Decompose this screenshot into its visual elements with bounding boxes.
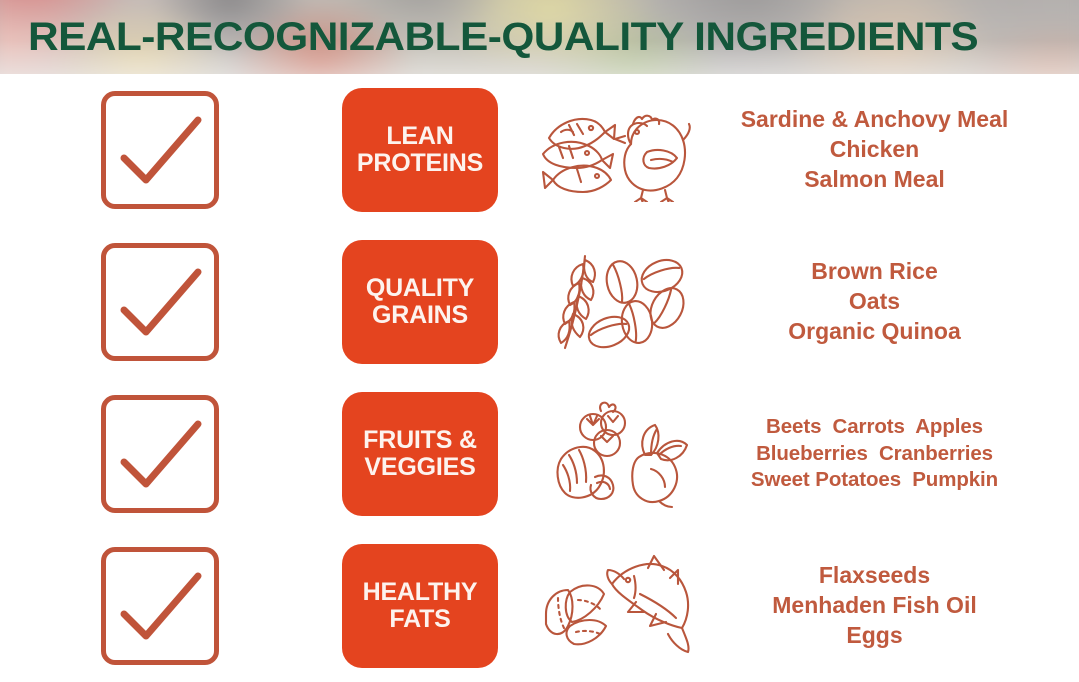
ingredient-line: Salmon Meal	[804, 165, 945, 195]
checkbox-cell	[0, 91, 320, 209]
art-cell	[520, 250, 710, 354]
art-cell	[520, 552, 710, 660]
wheat-and-grains-icon	[539, 250, 691, 354]
label-cell: HEALTHY FATS	[320, 544, 520, 668]
category-pill-healthy-fats[interactable]: HEALTHY FATS	[342, 544, 498, 668]
ingredient-line: Eggs	[846, 621, 902, 651]
ingredient-line: Brown Rice	[811, 257, 938, 287]
pill-line-1: HEALTHY	[363, 579, 478, 606]
art-cell	[520, 399, 710, 509]
ingredient-row: FRUITS & VEGGIES	[0, 378, 1079, 530]
art-cell	[520, 98, 710, 202]
category-pill-lean-proteins[interactable]: LEAN PROTEINS	[342, 88, 498, 212]
checkbox-lean-proteins[interactable]	[101, 91, 219, 209]
ingredient-line: Blueberries Cranberries	[756, 441, 993, 468]
ingredient-line: Sardine & Anchovy Meal	[741, 105, 1009, 135]
checkmark-icon	[106, 552, 214, 660]
ingredients-infographic: REAL-RECOGNIZABLE-QUALITY INGREDIENTS LE…	[0, 0, 1079, 682]
ingredient-list: Beets Carrots Apples Blueberries Cranber…	[710, 414, 1079, 494]
checkmark-icon	[106, 96, 214, 204]
checkmark-icon	[106, 248, 214, 356]
ingredient-line: Organic Quinoa	[788, 317, 961, 347]
pill-line-1: FRUITS &	[363, 427, 477, 454]
checkbox-fruits-veggies[interactable]	[101, 395, 219, 513]
checkbox-quality-grains[interactable]	[101, 243, 219, 361]
pill-line-2: VEGGIES	[364, 454, 475, 481]
ingredient-line: Beets Carrots Apples	[766, 414, 983, 441]
page-title: REAL-RECOGNIZABLE-QUALITY INGREDIENTS	[28, 0, 1079, 74]
checkbox-cell	[0, 547, 320, 665]
category-pill-fruits-veggies[interactable]: FRUITS & VEGGIES	[342, 392, 498, 516]
pill-line-1: QUALITY	[366, 275, 474, 302]
pill-line-2: PROTEINS	[357, 150, 483, 177]
label-cell: QUALITY GRAINS	[320, 240, 520, 364]
label-cell: FRUITS & VEGGIES	[320, 392, 520, 516]
ingredient-line: Menhaden Fish Oil	[772, 591, 976, 621]
pill-line-2: GRAINS	[372, 302, 468, 329]
header-banner: REAL-RECOGNIZABLE-QUALITY INGREDIENTS	[0, 0, 1079, 74]
ingredient-list: Brown Rice Oats Organic Quinoa	[710, 257, 1079, 347]
ingredient-row: LEAN PROTEINS	[0, 74, 1079, 226]
fish-and-chicken-icon	[539, 98, 691, 202]
sweet-potato-berries-beet-icon	[539, 399, 691, 509]
ingredient-line: Chicken	[830, 135, 919, 165]
checkmark-icon	[106, 400, 214, 508]
checkbox-cell	[0, 395, 320, 513]
ingredient-list: Flaxseeds Menhaden Fish Oil Eggs	[710, 561, 1079, 651]
ingredient-list: Sardine & Anchovy Meal Chicken Salmon Me…	[710, 105, 1079, 195]
pill-line-2: FATS	[389, 606, 450, 633]
checkbox-healthy-fats[interactable]	[101, 547, 219, 665]
label-cell: LEAN PROTEINS	[320, 88, 520, 212]
checkbox-cell	[0, 243, 320, 361]
pill-line-1: LEAN	[386, 123, 453, 150]
seeds-and-fish-icon	[536, 552, 694, 660]
ingredient-row: QUALITY GRAINS	[0, 226, 1079, 378]
ingredient-line: Sweet Potatoes Pumpkin	[751, 467, 998, 494]
ingredient-rows: LEAN PROTEINS	[0, 74, 1079, 682]
ingredient-line: Oats	[849, 287, 900, 317]
ingredient-row: HEALTHY FATS	[0, 530, 1079, 682]
ingredient-line: Flaxseeds	[819, 561, 930, 591]
category-pill-quality-grains[interactable]: QUALITY GRAINS	[342, 240, 498, 364]
